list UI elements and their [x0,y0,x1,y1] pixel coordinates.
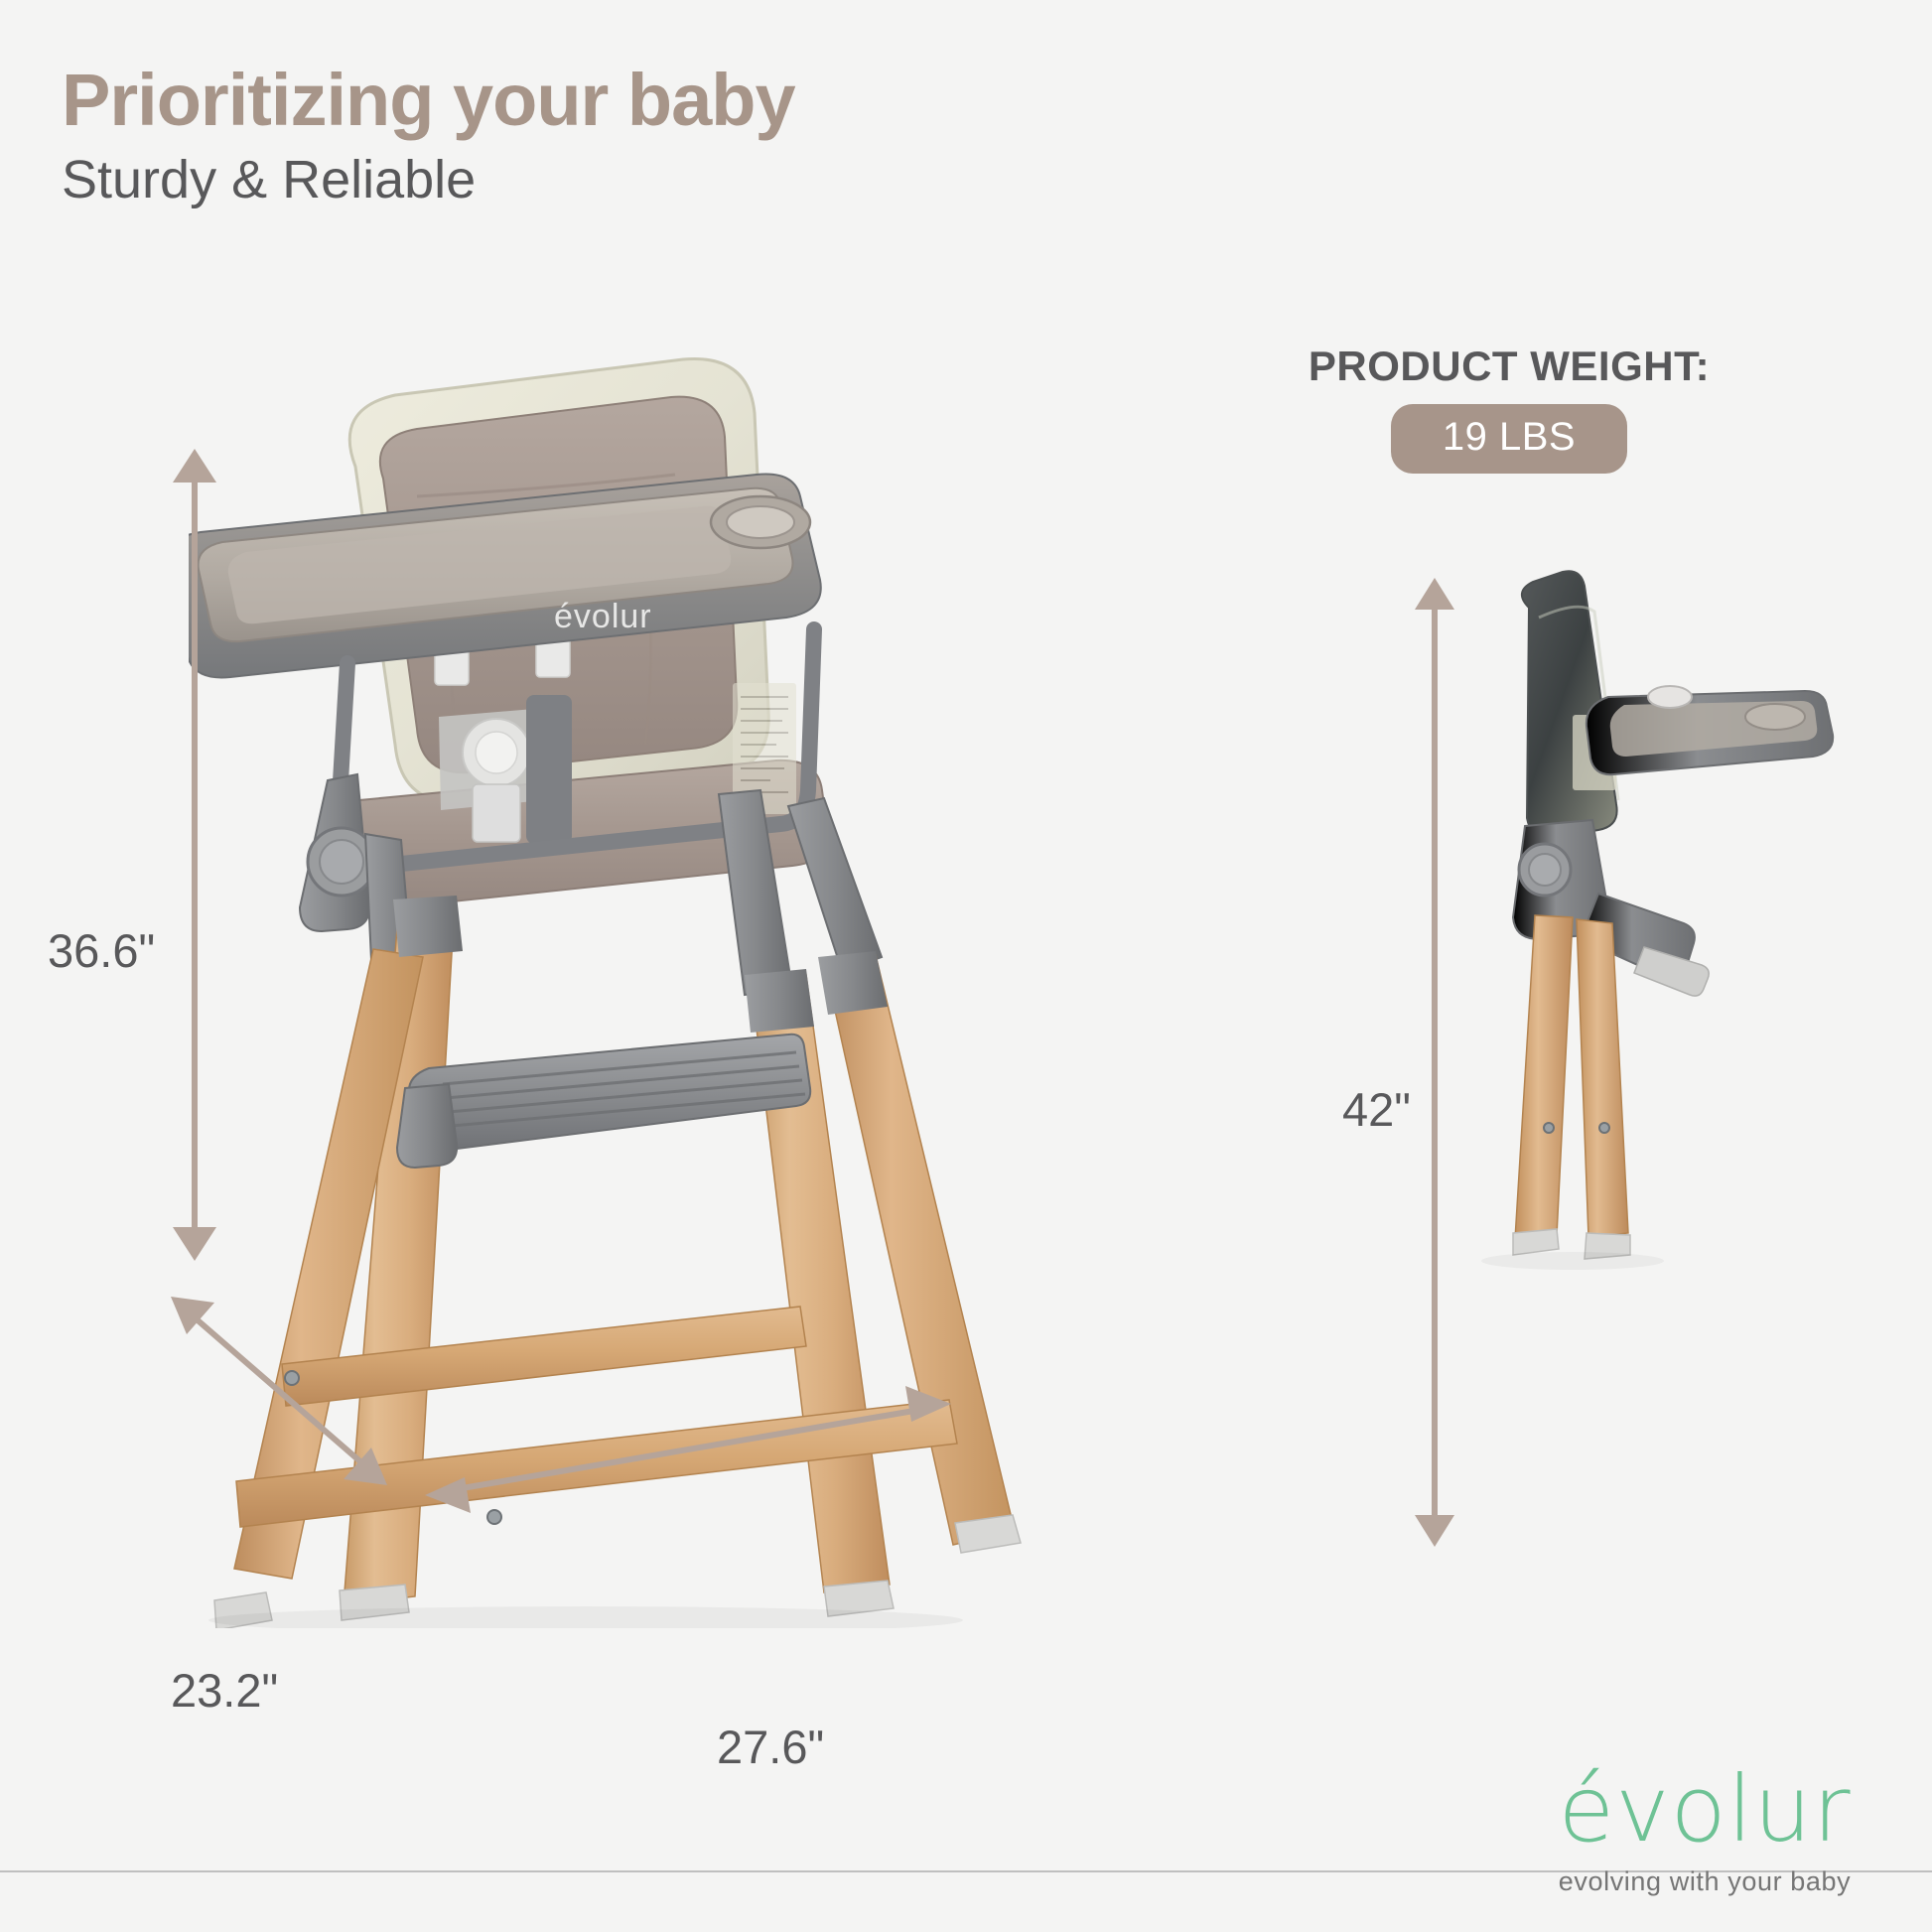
dimension-label-folded-height: 42" [1342,1082,1411,1137]
status-badge: 19 LBS [1391,404,1627,474]
folded-knob-inner [1529,854,1561,886]
dimension-label-width: 27.6" [717,1720,824,1774]
leg-cap-rear-right [818,951,888,1015]
logo-wordmark: évolur [1513,1765,1896,1855]
footrest-platform [409,1035,810,1152]
floor-shadow [1481,1252,1664,1270]
page-subtitle: Sturdy & Reliable [62,151,476,209]
screw-cap [285,1371,299,1385]
product-image-side-view [1469,566,1866,1281]
folded-tray-notch [1648,686,1692,708]
crotch-post [526,695,572,844]
brand-logo: évolur evolving with your baby [1513,1765,1896,1897]
recline-knob-inner [320,840,363,884]
screw-cap [1544,1123,1554,1133]
folded-foot-cap-rear [1513,1229,1559,1255]
stretcher-upper [282,1307,806,1406]
screw-cap [487,1510,501,1524]
dimension-label-depth: 23.2" [171,1663,278,1718]
folded-leg-front [1577,919,1628,1237]
leg-cap-front-right [745,969,814,1033]
page-title: Prioritizing your baby [62,62,795,139]
folded-tray [1587,686,1833,774]
arrowhead-folded-top [1415,578,1454,610]
seat-support-rear-right [788,798,882,971]
leg-cap-rear-left [393,896,463,957]
arrowhead-folded-bottom [1415,1515,1454,1547]
dimension-label-height: 36.6" [48,923,155,978]
screw-cap [1599,1123,1609,1133]
cup-holder [711,496,810,548]
infographic-canvas: Prioritizing your baby Sturdy & Reliable… [0,0,1932,1932]
footrest-bracket [397,1084,457,1168]
high-chair-front-illustration: évolur [189,347,1023,1628]
folded-leg-rear [1515,915,1573,1239]
tray-brand-text: évolur [554,598,652,635]
product-weight-block: PRODUCT WEIGHT: 19 LBS [1301,343,1718,474]
folded-cup-holder [1745,704,1805,730]
high-chair-side-illustration [1469,566,1866,1281]
logo-tagline: evolving with your baby [1513,1866,1896,1897]
product-image-front-view: évolur [189,347,1023,1628]
product-weight-label: PRODUCT WEIGHT: [1301,343,1718,390]
